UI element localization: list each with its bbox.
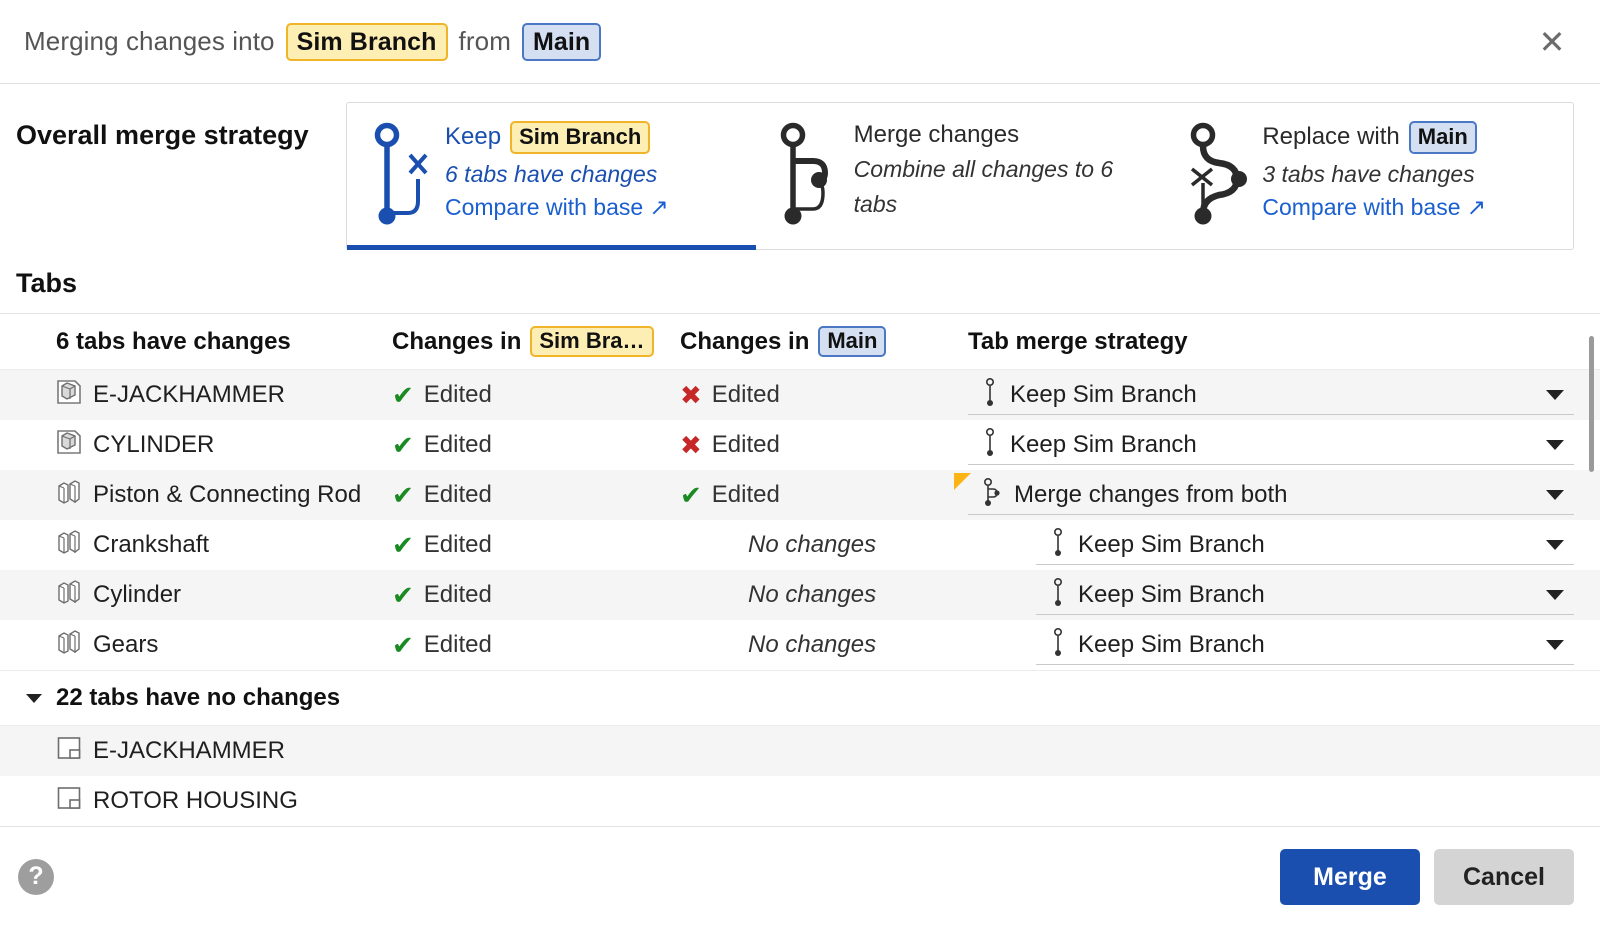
change-b-label: Edited (712, 481, 780, 509)
dialog-title-prefix: Merging changes into (24, 26, 275, 57)
changes-in-sim-branch-cell: ✔ Edited (392, 531, 680, 559)
tab-name-label: E-JACKHAMMER (93, 737, 285, 765)
strategy-option-replace-action: Replace with (1262, 123, 1399, 151)
change-b-label: No changes (748, 531, 876, 559)
strategy-option-keep-action: Keep (445, 123, 501, 151)
column-header-changes-b-chip: Main (818, 326, 886, 357)
check-icon: ✔ (392, 632, 414, 658)
chevron-down-icon[interactable] (26, 694, 42, 703)
tab-name-label: Crankshaft (93, 531, 209, 559)
no-changes-group-label: 22 tabs have no changes (56, 684, 340, 712)
tab-name-label: Gears (93, 631, 158, 659)
branch-keep-icon (1050, 527, 1066, 562)
branch-keep-icon (369, 119, 431, 229)
strategy-option-replace-detail: 3 tabs have changes (1262, 157, 1486, 192)
tab-merge-strategy-label: Keep Sim Branch (1010, 381, 1197, 409)
strategy-option-keep-detail: 6 tabs have changes (445, 157, 669, 192)
column-header-tab-merge-strategy: Tab merge strategy (968, 328, 1600, 356)
tab-merge-strategy-dropdown[interactable]: Keep Sim Branch (968, 425, 1574, 465)
tab-name-cell: ROTOR HOUSING (56, 785, 392, 818)
changes-in-main-cell: ✖ Edited (680, 381, 968, 409)
merge-button[interactable]: Merge (1280, 849, 1420, 905)
tab-name-cell: Piston & Connecting Rod (56, 479, 392, 512)
tabs-table: 6 tabs have changes Changes in Sim Bra… … (0, 313, 1600, 826)
tab-merge-strategy-dropdown[interactable]: Keep Sim Branch (1036, 525, 1574, 565)
table-row[interactable]: Crankshaft ✔ Edited No changes Keep Sim … (0, 520, 1600, 570)
tab-merge-strategy-dropdown[interactable]: Keep Sim Branch (1036, 575, 1574, 615)
tab-name-label: CYLINDER (93, 431, 214, 459)
conflict-flag-icon (954, 473, 971, 490)
drawing-icon (56, 785, 82, 818)
cancel-button[interactable]: Cancel (1434, 849, 1574, 905)
changes-in-sim-branch-cell: ✔ Edited (392, 481, 680, 509)
overall-merge-strategy-options: Keep Sim Branch 6 tabs have changes Comp… (346, 102, 1574, 250)
dialog-footer: ? Merge Cancel (0, 826, 1600, 926)
change-b-label: No changes (748, 581, 876, 609)
branch-keep-icon (982, 377, 998, 412)
tab-merge-strategy-label: Merge changes from both (1014, 481, 1287, 509)
tab-name-label: Piston & Connecting Rod (93, 481, 361, 509)
overall-merge-strategy-label: Overall merge strategy (16, 102, 346, 151)
chevron-down-icon[interactable] (1546, 590, 1564, 600)
chevron-down-icon[interactable] (1546, 640, 1564, 650)
changes-in-main-cell: No changes (680, 581, 1036, 609)
branch-keep-icon (1050, 627, 1066, 662)
tab-merge-strategy-label: Keep Sim Branch (1078, 631, 1265, 659)
strategy-option-merge-changes[interactable]: Merge changes Combine all changes to 6 t… (756, 103, 1165, 249)
change-b-label: Edited (712, 431, 780, 459)
strategy-option-merge-title: Merge changes (854, 121, 1151, 149)
strategy-option-keep-title: Keep Sim Branch (445, 121, 669, 154)
strategy-option-replace-with-main[interactable]: Replace with Main 3 tabs have changes Co… (1164, 103, 1573, 249)
strategy-option-merge-action: Merge changes (854, 121, 1019, 149)
column-header-changes-a-prefix: Changes in (392, 328, 521, 356)
changes-in-main-cell: No changes (680, 531, 1036, 559)
column-header-changes-main: Changes in Main (680, 326, 968, 357)
change-a-label: Edited (424, 381, 492, 409)
table-row[interactable]: Cylinder ✔ Edited No changes Keep Sim Br… (0, 570, 1600, 620)
change-a-label: Edited (424, 631, 492, 659)
table-row[interactable]: E-JACKHAMMER ✔ Edited ✖ Edited Keep Sim … (0, 370, 1600, 420)
tab-merge-strategy-label: Keep Sim Branch (1078, 531, 1265, 559)
tab-merge-strategy-dropdown[interactable]: Merge changes from both (968, 475, 1574, 515)
merge-dialog: Merging changes into Sim Branch from Mai… (0, 0, 1600, 926)
check-icon: ✔ (392, 532, 414, 558)
no-changes-group-header[interactable]: 22 tabs have no changes (0, 670, 1600, 726)
branch-keep-icon (1050, 577, 1066, 612)
branch-merge-icon (982, 477, 1002, 512)
check-icon: ✔ (680, 482, 702, 508)
tab-merge-strategy-dropdown[interactable]: Keep Sim Branch (968, 375, 1574, 415)
changes-in-sim-branch-cell: ✔ Edited (392, 431, 680, 459)
cross-icon: ✖ (680, 432, 702, 458)
list-item[interactable]: ROTOR HOUSING (0, 776, 1600, 826)
part-studio-icon (56, 429, 82, 462)
tab-name-cell: Cylinder (56, 579, 392, 612)
tab-name-cell: Crankshaft (56, 529, 392, 562)
tab-merge-strategy-label: Keep Sim Branch (1078, 581, 1265, 609)
table-scrollbar[interactable] (1589, 336, 1594, 472)
assembly-icon (56, 629, 82, 662)
dialog-title-middle: from (459, 26, 511, 57)
help-icon[interactable]: ? (18, 859, 54, 895)
chevron-down-icon[interactable] (1546, 390, 1564, 400)
tab-merge-strategy-label: Keep Sim Branch (1010, 431, 1197, 459)
drawing-icon (56, 735, 82, 768)
change-b-label: No changes (748, 631, 876, 659)
changes-in-sim-branch-cell: ✔ Edited (392, 381, 680, 409)
strategy-option-keep-sim-branch[interactable]: Keep Sim Branch 6 tabs have changes Comp… (347, 103, 756, 249)
part-studio-icon (56, 379, 82, 412)
overall-merge-strategy-section: Overall merge strategy Keep (0, 84, 1600, 250)
assembly-icon (56, 579, 82, 612)
branch-keep-icon (982, 427, 998, 462)
strategy-option-keep-chip: Sim Branch (510, 121, 650, 154)
change-a-label: Edited (424, 481, 492, 509)
strategy-option-replace-chip: Main (1409, 121, 1477, 154)
tab-name-cell: E-JACKHAMMER (56, 379, 392, 412)
changes-in-main-cell: No changes (680, 631, 1036, 659)
list-item[interactable]: E-JACKHAMMER (0, 726, 1600, 776)
assembly-icon (56, 479, 82, 512)
column-header-changes-sim-branch: Changes in Sim Bra… (392, 326, 680, 357)
compare-with-base-link-replace[interactable]: Compare with base ↗ (1262, 194, 1486, 221)
tab-merge-strategy-dropdown[interactable]: Keep Sim Branch (1036, 625, 1574, 665)
title-target-branch-chip: Sim Branch (286, 23, 448, 61)
title-source-branch-chip: Main (522, 23, 601, 61)
assembly-icon (56, 529, 82, 562)
table-row[interactable]: Gears ✔ Edited No changes Keep Sim Branc… (0, 620, 1600, 670)
change-a-label: Edited (424, 531, 492, 559)
column-header-changes-a-chip: Sim Bra… (530, 326, 653, 357)
dialog-title: Merging changes into Sim Branch from Mai… (24, 23, 601, 61)
check-icon: ✔ (392, 582, 414, 608)
strategy-option-merge-detail: Combine all changes to 6 tabs (854, 152, 1151, 221)
close-icon[interactable]: ✕ (1530, 20, 1574, 64)
column-header-name: 6 tabs have changes (56, 328, 392, 356)
tab-name-label: E-JACKHAMMER (93, 381, 285, 409)
tab-name-cell: Gears (56, 629, 392, 662)
cross-icon: ✖ (680, 382, 702, 408)
chevron-down-icon[interactable] (1546, 440, 1564, 450)
chevron-down-icon[interactable] (1546, 540, 1564, 550)
changes-in-sim-branch-cell: ✔ Edited (392, 631, 680, 659)
strategy-option-merge-text: Merge changes Combine all changes to 6 t… (854, 119, 1151, 221)
changes-in-sim-branch-cell: ✔ Edited (392, 581, 680, 609)
tabs-heading: Tabs (0, 250, 1600, 313)
changes-in-main-cell: ✔ Edited (680, 481, 968, 509)
tab-name-label: ROTOR HOUSING (93, 787, 298, 815)
tabs-table-header: 6 tabs have changes Changes in Sim Bra… … (0, 314, 1600, 370)
strategy-option-replace-title: Replace with Main (1262, 121, 1486, 154)
change-a-label: Edited (424, 431, 492, 459)
table-row[interactable]: CYLINDER ✔ Edited ✖ Edited Keep Sim Bran… (0, 420, 1600, 470)
column-header-changes-b-prefix: Changes in (680, 328, 809, 356)
chevron-down-icon[interactable] (1546, 490, 1564, 500)
dialog-titlebar: Merging changes into Sim Branch from Mai… (0, 0, 1600, 84)
compare-with-base-link-keep[interactable]: Compare with base ↗ (445, 194, 669, 221)
check-icon: ✔ (392, 382, 414, 408)
check-icon: ✔ (392, 482, 414, 508)
change-a-label: Edited (424, 581, 492, 609)
branch-replace-icon (1186, 119, 1248, 229)
changes-in-main-cell: ✖ Edited (680, 431, 968, 459)
tab-name-label: Cylinder (93, 581, 181, 609)
branch-merge-icon (778, 119, 840, 229)
check-icon: ✔ (392, 432, 414, 458)
change-b-label: Edited (712, 381, 780, 409)
table-row[interactable]: Piston & Connecting Rod ✔ Edited ✔ Edite… (0, 470, 1600, 520)
strategy-option-keep-text: Keep Sim Branch 6 tabs have changes Comp… (445, 119, 669, 221)
tab-name-cell: E-JACKHAMMER (56, 735, 392, 768)
tab-name-cell: CYLINDER (56, 429, 392, 462)
strategy-option-replace-text: Replace with Main 3 tabs have changes Co… (1262, 119, 1486, 221)
